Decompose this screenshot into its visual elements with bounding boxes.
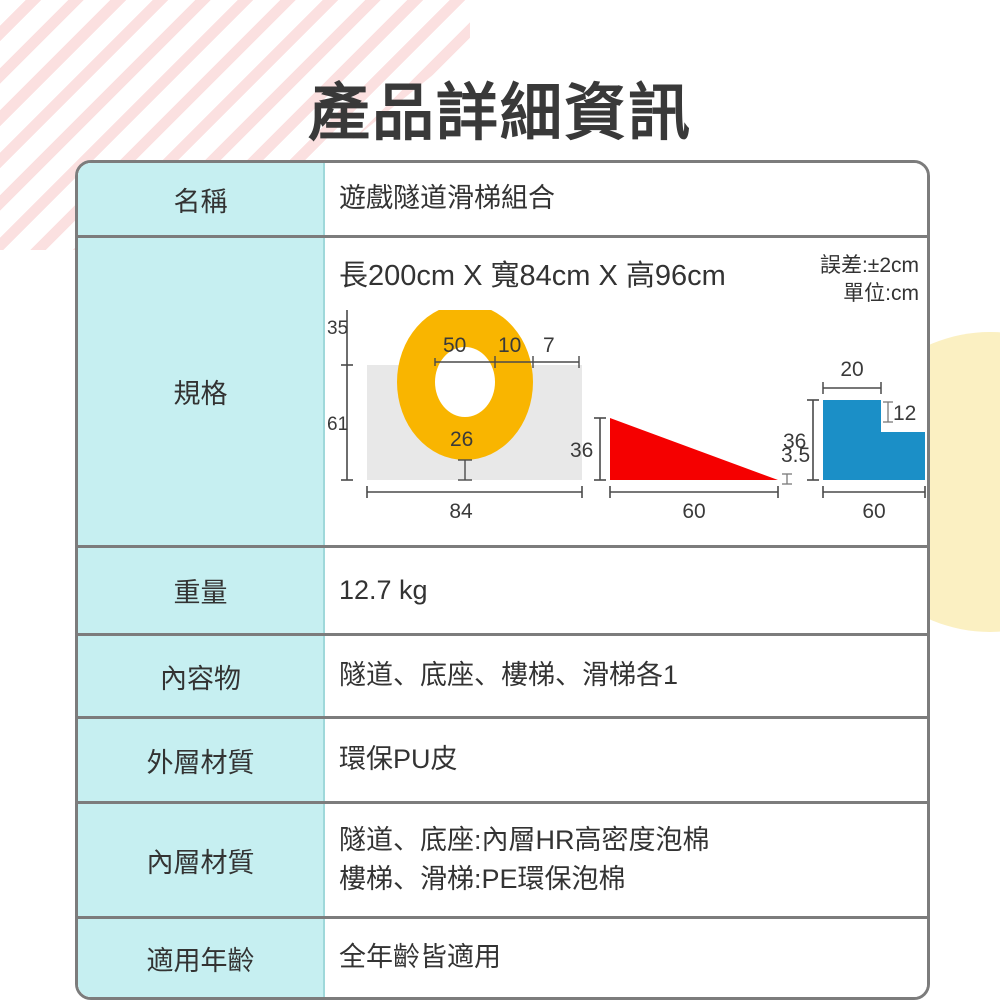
overall-dimension-text: 長200cm X 寬84cm X 高96cm bbox=[339, 252, 726, 294]
row-value-contents: 隧道、底座、樓梯、滑梯各1 bbox=[325, 636, 927, 716]
dim-label-7: 7 bbox=[543, 334, 555, 357]
table-row-age: 適用年齡 全年齡皆適用 bbox=[78, 919, 927, 997]
row-value-inner-material: 隧道、底座:內層HR高密度泡棉 樓梯、滑梯:PE環保泡棉 bbox=[325, 804, 927, 916]
inner-material-line-1: 隧道、底座:內層HR高密度泡棉 bbox=[339, 821, 927, 860]
unit-text: 單位:cm bbox=[820, 280, 919, 308]
row-label-contents: 內容物 bbox=[78, 636, 325, 716]
dim-label-stairs-12: 12 bbox=[893, 402, 916, 425]
diagram-svg: 35 61 bbox=[325, 310, 930, 524]
dim-line-stairs-20 bbox=[823, 382, 881, 394]
product-spec-table: 名稱 遊戲隧道滑梯組合 規格 長200cm X 寬84cm X 高96cm 誤差… bbox=[75, 160, 930, 1000]
dim-label-stairs-60: 60 bbox=[862, 500, 885, 523]
row-label-inner-material: 內層材質 bbox=[78, 804, 325, 916]
tolerance-text: 誤差:±2cm bbox=[820, 252, 919, 280]
table-row-outer-material: 外層材質 環保PU皮 bbox=[78, 719, 927, 804]
row-value-name: 遊戲隧道滑梯組合 bbox=[325, 163, 927, 235]
table-row-inner-material: 內層材質 隧道、底座:內層HR高密度泡棉 樓梯、滑梯:PE環保泡棉 bbox=[78, 804, 927, 919]
tolerance-unit-block: 誤差:±2cm 單位:cm bbox=[820, 252, 919, 309]
dim-line-stairs-12 bbox=[883, 402, 893, 422]
row-label-spec: 規格 bbox=[78, 238, 325, 545]
row-value-spec: 長200cm X 寬84cm X 高96cm 誤差:±2cm 單位:cm bbox=[325, 238, 927, 545]
dim-label-slide-36: 36 bbox=[570, 439, 593, 462]
dim-label-84: 84 bbox=[449, 500, 473, 523]
dim-label-slide-60: 60 bbox=[682, 500, 705, 523]
dim-line-slide-3-5 bbox=[782, 474, 792, 484]
row-value-weight: 12.7 kg bbox=[325, 548, 927, 633]
age-text: 全年齡皆適用 bbox=[339, 938, 927, 977]
dim-label-stairs-20: 20 bbox=[840, 358, 863, 381]
dim-label-61: 61 bbox=[327, 414, 348, 435]
table-row-contents: 內容物 隧道、底座、樓梯、滑梯各1 bbox=[78, 636, 927, 719]
dim-label-stairs-36: 36 bbox=[783, 430, 806, 453]
outer-material-text: 環保PU皮 bbox=[339, 740, 927, 779]
row-label-weight: 重量 bbox=[78, 548, 325, 633]
row-label-age: 適用年齡 bbox=[78, 919, 325, 997]
row-value-age: 全年齡皆適用 bbox=[325, 919, 927, 997]
dim-label-50: 50 bbox=[443, 334, 466, 357]
dim-label-10: 10 bbox=[498, 334, 521, 357]
weight-text: 12.7 kg bbox=[339, 571, 927, 610]
slide-triangle bbox=[610, 418, 778, 480]
spec-diagram-block: 長200cm X 寬84cm X 高96cm 誤差:±2cm 單位:cm bbox=[325, 238, 927, 545]
dim-line-stairs-60 bbox=[823, 486, 925, 498]
dim-line-84 bbox=[367, 486, 582, 498]
row-label-outer-material: 外層材質 bbox=[78, 719, 325, 801]
dim-line-stairs-36 bbox=[807, 400, 819, 480]
dim-line-slide-36 bbox=[594, 418, 606, 480]
dim-label-26: 26 bbox=[450, 428, 473, 451]
table-row-name: 名稱 遊戲隧道滑梯組合 bbox=[78, 163, 927, 238]
dim-label-35: 35 bbox=[327, 318, 348, 339]
dim-line-slide-60 bbox=[610, 486, 778, 498]
dimension-diagrams: 35 61 bbox=[325, 310, 927, 524]
inner-material-line-2: 樓梯、滑梯:PE環保泡棉 bbox=[339, 860, 927, 899]
product-name-text: 遊戲隧道滑梯組合 bbox=[339, 179, 927, 218]
row-value-outer-material: 環保PU皮 bbox=[325, 719, 927, 801]
table-row-spec: 規格 長200cm X 寬84cm X 高96cm 誤差:±2cm 單位:cm bbox=[78, 238, 927, 548]
page-title: 產品詳細資訊 bbox=[0, 80, 1000, 148]
row-label-name: 名稱 bbox=[78, 163, 325, 235]
table-row-weight: 重量 12.7 kg bbox=[78, 548, 927, 636]
contents-text: 隧道、底座、樓梯、滑梯各1 bbox=[339, 656, 927, 695]
